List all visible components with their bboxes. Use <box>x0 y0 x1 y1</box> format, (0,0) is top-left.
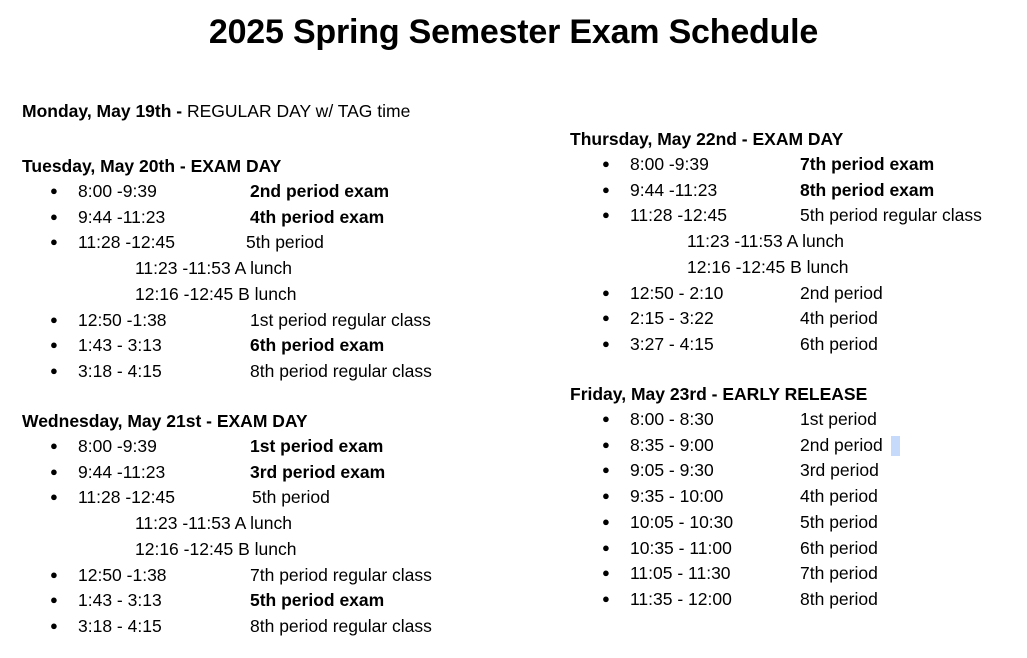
lunch-line: 11:23 -11:53 A lunch <box>687 228 844 254</box>
schedule-row-time: 1:43 - 3:13 <box>78 332 162 358</box>
schedule-row-description: 7th period exam <box>800 151 934 177</box>
schedule-row[interactable]: ●11:05 - 11:307th period <box>540 560 1027 586</box>
bullet-icon: ● <box>50 307 58 333</box>
schedule-row-description: 6th period <box>800 535 878 561</box>
schedule-row-description: 7th period <box>800 560 878 586</box>
schedule-row-description: 5th period <box>246 229 324 255</box>
schedule-row-time: 11:05 - 11:30 <box>630 560 731 586</box>
schedule-row-description: 5th period <box>800 509 878 535</box>
text-selection-highlight <box>891 436 900 456</box>
bullet-icon: ● <box>602 457 610 483</box>
day-header-date: Tuesday, May 20th - EXAM DAY <box>22 156 281 176</box>
schedule-row-description: 4th period <box>800 305 878 331</box>
bullet-icon: ● <box>50 178 58 204</box>
day-block-monday: Monday, May 19th - REGULAR DAY w/ TAG ti… <box>0 100 540 110</box>
schedule-row-time: 8:00 - 8:30 <box>630 406 714 432</box>
day-block-friday: Friday, May 23rd - EARLY RELEASE●8:00 - … <box>540 383 1027 393</box>
schedule-row[interactable]: ●12:50 - 2:102nd period <box>540 280 1027 306</box>
schedule-row-description: 2nd period exam <box>250 178 389 204</box>
day-header-thursday: Thursday, May 22nd - EXAM DAY <box>570 128 843 150</box>
schedule-row-time: 8:00 -9:39 <box>78 178 157 204</box>
schedule-row-description: 4th period exam <box>250 204 384 230</box>
lunch-line: 12:16 -12:45 B lunch <box>687 254 849 280</box>
schedule-row[interactable]: ●1:43 - 3:135th period exam <box>0 587 540 613</box>
schedule-row-time: 8:35 - 9:00 <box>630 432 714 458</box>
schedule-row-time: 12:50 - 2:10 <box>630 280 723 306</box>
day-block-thursday: Thursday, May 22nd - EXAM DAY●8:00 -9:39… <box>540 128 1027 138</box>
bullet-icon: ● <box>50 459 58 485</box>
bullet-icon: ● <box>602 432 610 458</box>
bullet-icon: ● <box>50 204 58 230</box>
schedule-row[interactable]: ●11:28 -12:455th period <box>0 484 540 510</box>
schedule-row[interactable]: ●8:00 - 8:301st period <box>540 406 1027 432</box>
schedule-row[interactable]: ●11:28 -12:455th period regular class <box>540 202 1027 228</box>
schedule-row[interactable]: ●11:28 -12:455th period <box>0 229 540 255</box>
schedule-row-time: 12:50 -1:38 <box>78 307 167 333</box>
schedule-row-description: 4th period <box>800 483 878 509</box>
schedule-row-time: 11:35 - 12:00 <box>630 586 732 612</box>
schedule-row-time: 10:35 - 11:00 <box>630 535 732 561</box>
day-block-tuesday: Tuesday, May 20th - EXAM DAY●8:00 -9:392… <box>0 155 540 165</box>
schedule-row[interactable]: ●2:15 - 3:224th period <box>540 305 1027 331</box>
bullet-icon: ● <box>602 586 610 612</box>
schedule-row-time: 1:43 - 3:13 <box>78 587 162 613</box>
bullet-icon: ● <box>50 358 58 384</box>
schedule-row-time: 8:00 -9:39 <box>78 433 157 459</box>
schedule-row[interactable]: ●3:27 - 4:156th period <box>540 331 1027 357</box>
schedule-row-time: 11:28 -12:45 <box>630 202 727 228</box>
schedule-row[interactable]: ●3:18 - 4:158th period regular class <box>0 613 540 639</box>
bullet-icon: ● <box>50 229 58 255</box>
day-header-wednesday: Wednesday, May 21st - EXAM DAY <box>22 410 308 432</box>
day-header-date: Monday, May 19th - <box>22 101 182 121</box>
schedule-row-time: 9:44 -11:23 <box>630 177 717 203</box>
lunch-line: 12:16 -12:45 B lunch <box>135 281 297 307</box>
bullet-icon: ● <box>602 305 610 331</box>
day-header-date: Friday, May 23rd - EARLY RELEASE <box>570 384 867 404</box>
lunch-line: 11:23 -11:53 A lunch <box>135 510 292 536</box>
day-header-tuesday: Tuesday, May 20th - EXAM DAY <box>22 155 281 177</box>
schedule-row[interactable]: ●11:35 - 12:008th period <box>540 586 1027 612</box>
page-title: 2025 Spring Semester Exam Schedule <box>0 12 1027 52</box>
bullet-icon: ● <box>50 562 58 588</box>
day-header-date: Wednesday, May 21st - EXAM DAY <box>22 411 308 431</box>
schedule-row-description: 1st period regular class <box>250 307 431 333</box>
schedule-row[interactable]: ●8:00 -9:391st period exam <box>0 433 540 459</box>
schedule-row-description: 5th period regular class <box>800 202 982 228</box>
bullet-icon: ● <box>602 406 610 432</box>
bullet-icon: ● <box>602 280 610 306</box>
schedule-row[interactable]: ●9:44 -11:233rd period exam <box>0 459 540 485</box>
lunch-line: 12:16 -12:45 B lunch <box>135 536 297 562</box>
schedule-row-description: 3rd period <box>800 457 879 483</box>
schedule-row-time: 11:28 -12:45 <box>78 484 175 510</box>
schedule-row-description: 5th period exam <box>250 587 384 613</box>
schedule-row-time: 9:35 - 10:00 <box>630 483 723 509</box>
schedule-row[interactable]: ●3:18 - 4:158th period regular class <box>0 358 540 384</box>
bullet-icon: ● <box>602 509 610 535</box>
schedule-row[interactable]: ●10:05 - 10:305th period <box>540 509 1027 535</box>
schedule-row-time: 3:18 - 4:15 <box>78 358 162 384</box>
schedule-row[interactable]: ●12:50 -1:387th period regular class <box>0 562 540 588</box>
day-header-date: Thursday, May 22nd - EXAM DAY <box>570 129 843 149</box>
bullet-icon: ● <box>50 332 58 358</box>
bullet-icon: ● <box>50 484 58 510</box>
bullet-icon: ● <box>602 151 610 177</box>
bullet-icon: ● <box>50 587 58 613</box>
schedule-row-time: 3:18 - 4:15 <box>78 613 162 639</box>
schedule-row[interactable]: ●8:00 -9:397th period exam <box>540 151 1027 177</box>
schedule-row[interactable]: ●8:00 -9:392nd period exam <box>0 178 540 204</box>
schedule-row-description: 3rd period exam <box>250 459 385 485</box>
schedule-row[interactable]: ●9:35 - 10:004th period <box>540 483 1027 509</box>
day-block-wednesday: Wednesday, May 21st - EXAM DAY●8:00 -9:3… <box>0 410 540 420</box>
schedule-row-time: 12:50 -1:38 <box>78 562 167 588</box>
schedule-row-description: 5th period <box>252 484 330 510</box>
schedule-row[interactable]: ●9:44 -11:238th period exam <box>540 177 1027 203</box>
schedule-row-description: 6th period exam <box>250 332 384 358</box>
schedule-row-time: 8:00 -9:39 <box>630 151 709 177</box>
schedule-row-description: 8th period exam <box>800 177 934 203</box>
schedule-row-description: 8th period regular class <box>250 358 432 384</box>
schedule-row-description: 6th period <box>800 331 878 357</box>
bullet-icon: ● <box>602 560 610 586</box>
schedule-row[interactable]: ●1:43 - 3:136th period exam <box>0 332 540 358</box>
schedule-row-time: 9:05 - 9:30 <box>630 457 714 483</box>
day-header-monday: Monday, May 19th - REGULAR DAY w/ TAG ti… <box>22 100 410 122</box>
day-header-friday: Friday, May 23rd - EARLY RELEASE <box>570 383 867 405</box>
schedule-row-description: 2nd period <box>800 432 883 458</box>
schedule-row[interactable]: ●9:05 - 9:303rd period <box>540 457 1027 483</box>
bullet-icon: ● <box>50 433 58 459</box>
schedule-row-description: 2nd period <box>800 280 883 306</box>
schedule-row-description: 1st period <box>800 406 877 432</box>
schedule-row-description: 7th period regular class <box>250 562 432 588</box>
schedule-row-description: 1st period exam <box>250 433 383 459</box>
lunch-line: 11:23 -11:53 A lunch <box>135 255 292 281</box>
schedule-row-time: 9:44 -11:23 <box>78 204 165 230</box>
bullet-icon: ● <box>602 535 610 561</box>
schedule-row[interactable]: ●12:50 -1:381st period regular class <box>0 307 540 333</box>
bullet-icon: ● <box>602 177 610 203</box>
schedule-row-time: 2:15 - 3:22 <box>630 305 714 331</box>
schedule-row[interactable]: ●10:35 - 11:006th period <box>540 535 1027 561</box>
schedule-row[interactable]: ●9:44 -11:234th period exam <box>0 204 540 230</box>
schedule-row-description: 8th period <box>800 586 878 612</box>
bullet-icon: ● <box>602 483 610 509</box>
schedule-row-time: 11:28 -12:45 <box>78 229 175 255</box>
schedule-row-time: 10:05 - 10:30 <box>630 509 733 535</box>
bullet-icon: ● <box>50 613 58 639</box>
schedule-row-time: 9:44 -11:23 <box>78 459 165 485</box>
schedule-row[interactable]: ●8:35 - 9:002nd period <box>540 432 1027 458</box>
bullet-icon: ● <box>602 202 610 228</box>
bullet-icon: ● <box>602 331 610 357</box>
schedule-row-description: 8th period regular class <box>250 613 432 639</box>
day-header-note: REGULAR DAY w/ TAG time <box>182 101 410 121</box>
schedule-row-time: 3:27 - 4:15 <box>630 331 714 357</box>
